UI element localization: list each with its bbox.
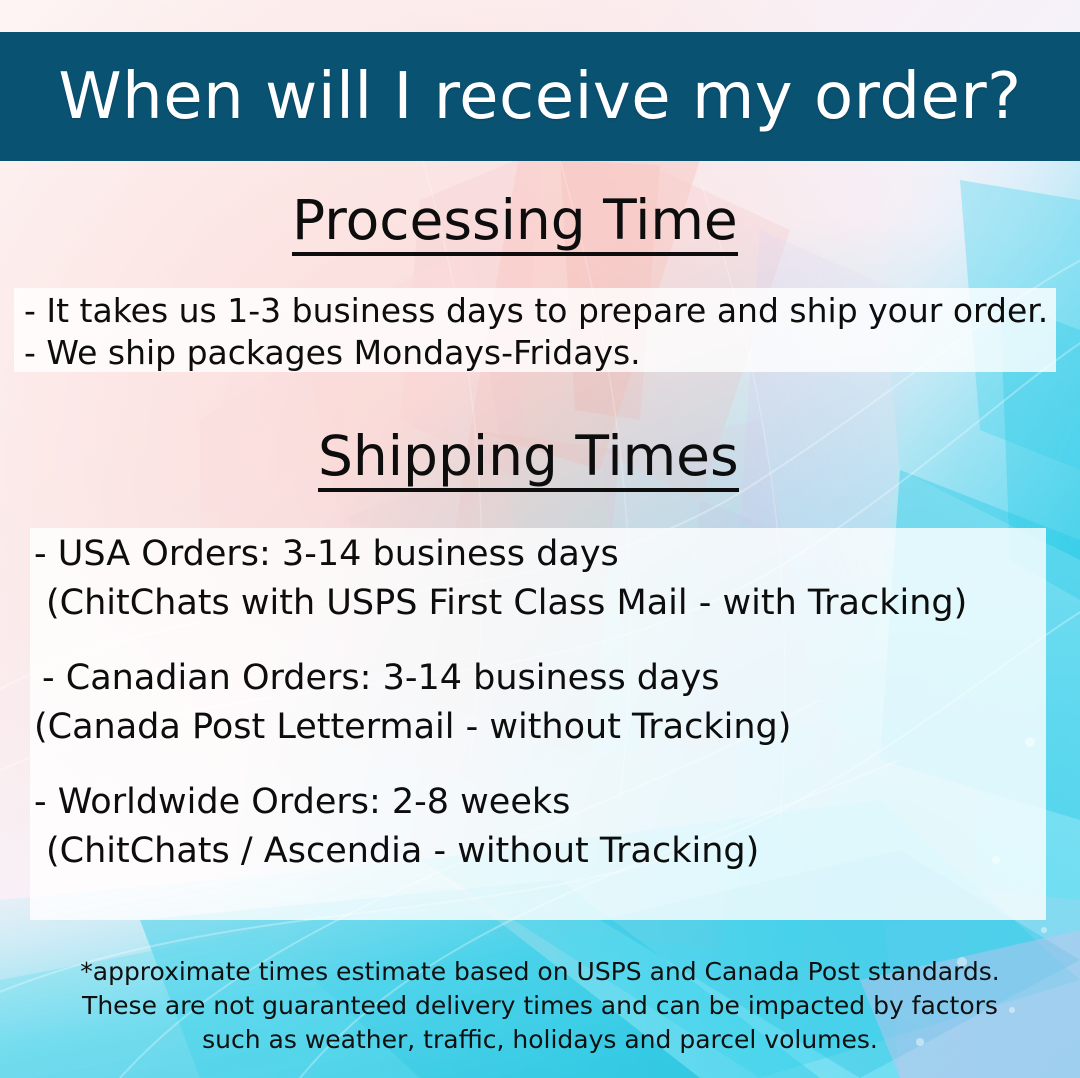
processing-time-lines: - It takes us 1-3 business days to prepa…	[24, 290, 1054, 374]
processing-line: - We ship packages Mondays-Fridays.	[24, 332, 1054, 374]
shipping-group-heading: - Canadian Orders: 3-14 business days	[34, 654, 1044, 703]
shipping-group-heading: - USA Orders: 3-14 business days	[34, 530, 1044, 579]
shipping-group-worldwide: - Worldwide Orders: 2-8 weeks (ChitChats…	[34, 778, 1044, 876]
shipping-group-detail: (ChitChats with USPS First Class Mail - …	[34, 579, 1044, 628]
shipping-info-poster: When will I receive my order? Processing…	[0, 0, 1080, 1078]
processing-line: - It takes us 1-3 business days to prepa…	[24, 290, 1054, 332]
shipping-group-canada: - Canadian Orders: 3-14 business days (C…	[34, 654, 1044, 752]
shipping-group-usa: - USA Orders: 3-14 business days (ChitCh…	[34, 530, 1044, 628]
disclaimer-line: These are not guaranteed delivery times …	[0, 989, 1080, 1023]
page-title: When will I receive my order?	[58, 60, 1021, 134]
disclaimer-line: *approximate times estimate based on USP…	[0, 955, 1080, 989]
disclaimer-line: such as weather, traffic, holidays and p…	[0, 1023, 1080, 1057]
shipping-group-heading: - Worldwide Orders: 2-8 weeks	[34, 778, 1044, 827]
shipping-group-detail: (Canada Post Lettermail - without Tracki…	[34, 703, 1044, 752]
disclaimer-note: *approximate times estimate based on USP…	[0, 955, 1080, 1057]
header-banner: When will I receive my order?	[0, 32, 1080, 161]
processing-time-heading: Processing Time	[292, 192, 738, 256]
shipping-times-heading: Shipping Times	[318, 428, 739, 492]
shipping-group-detail: (ChitChats / Ascendia - without Tracking…	[34, 827, 1044, 876]
shipping-times-groups: - USA Orders: 3-14 business days (ChitCh…	[34, 530, 1044, 876]
